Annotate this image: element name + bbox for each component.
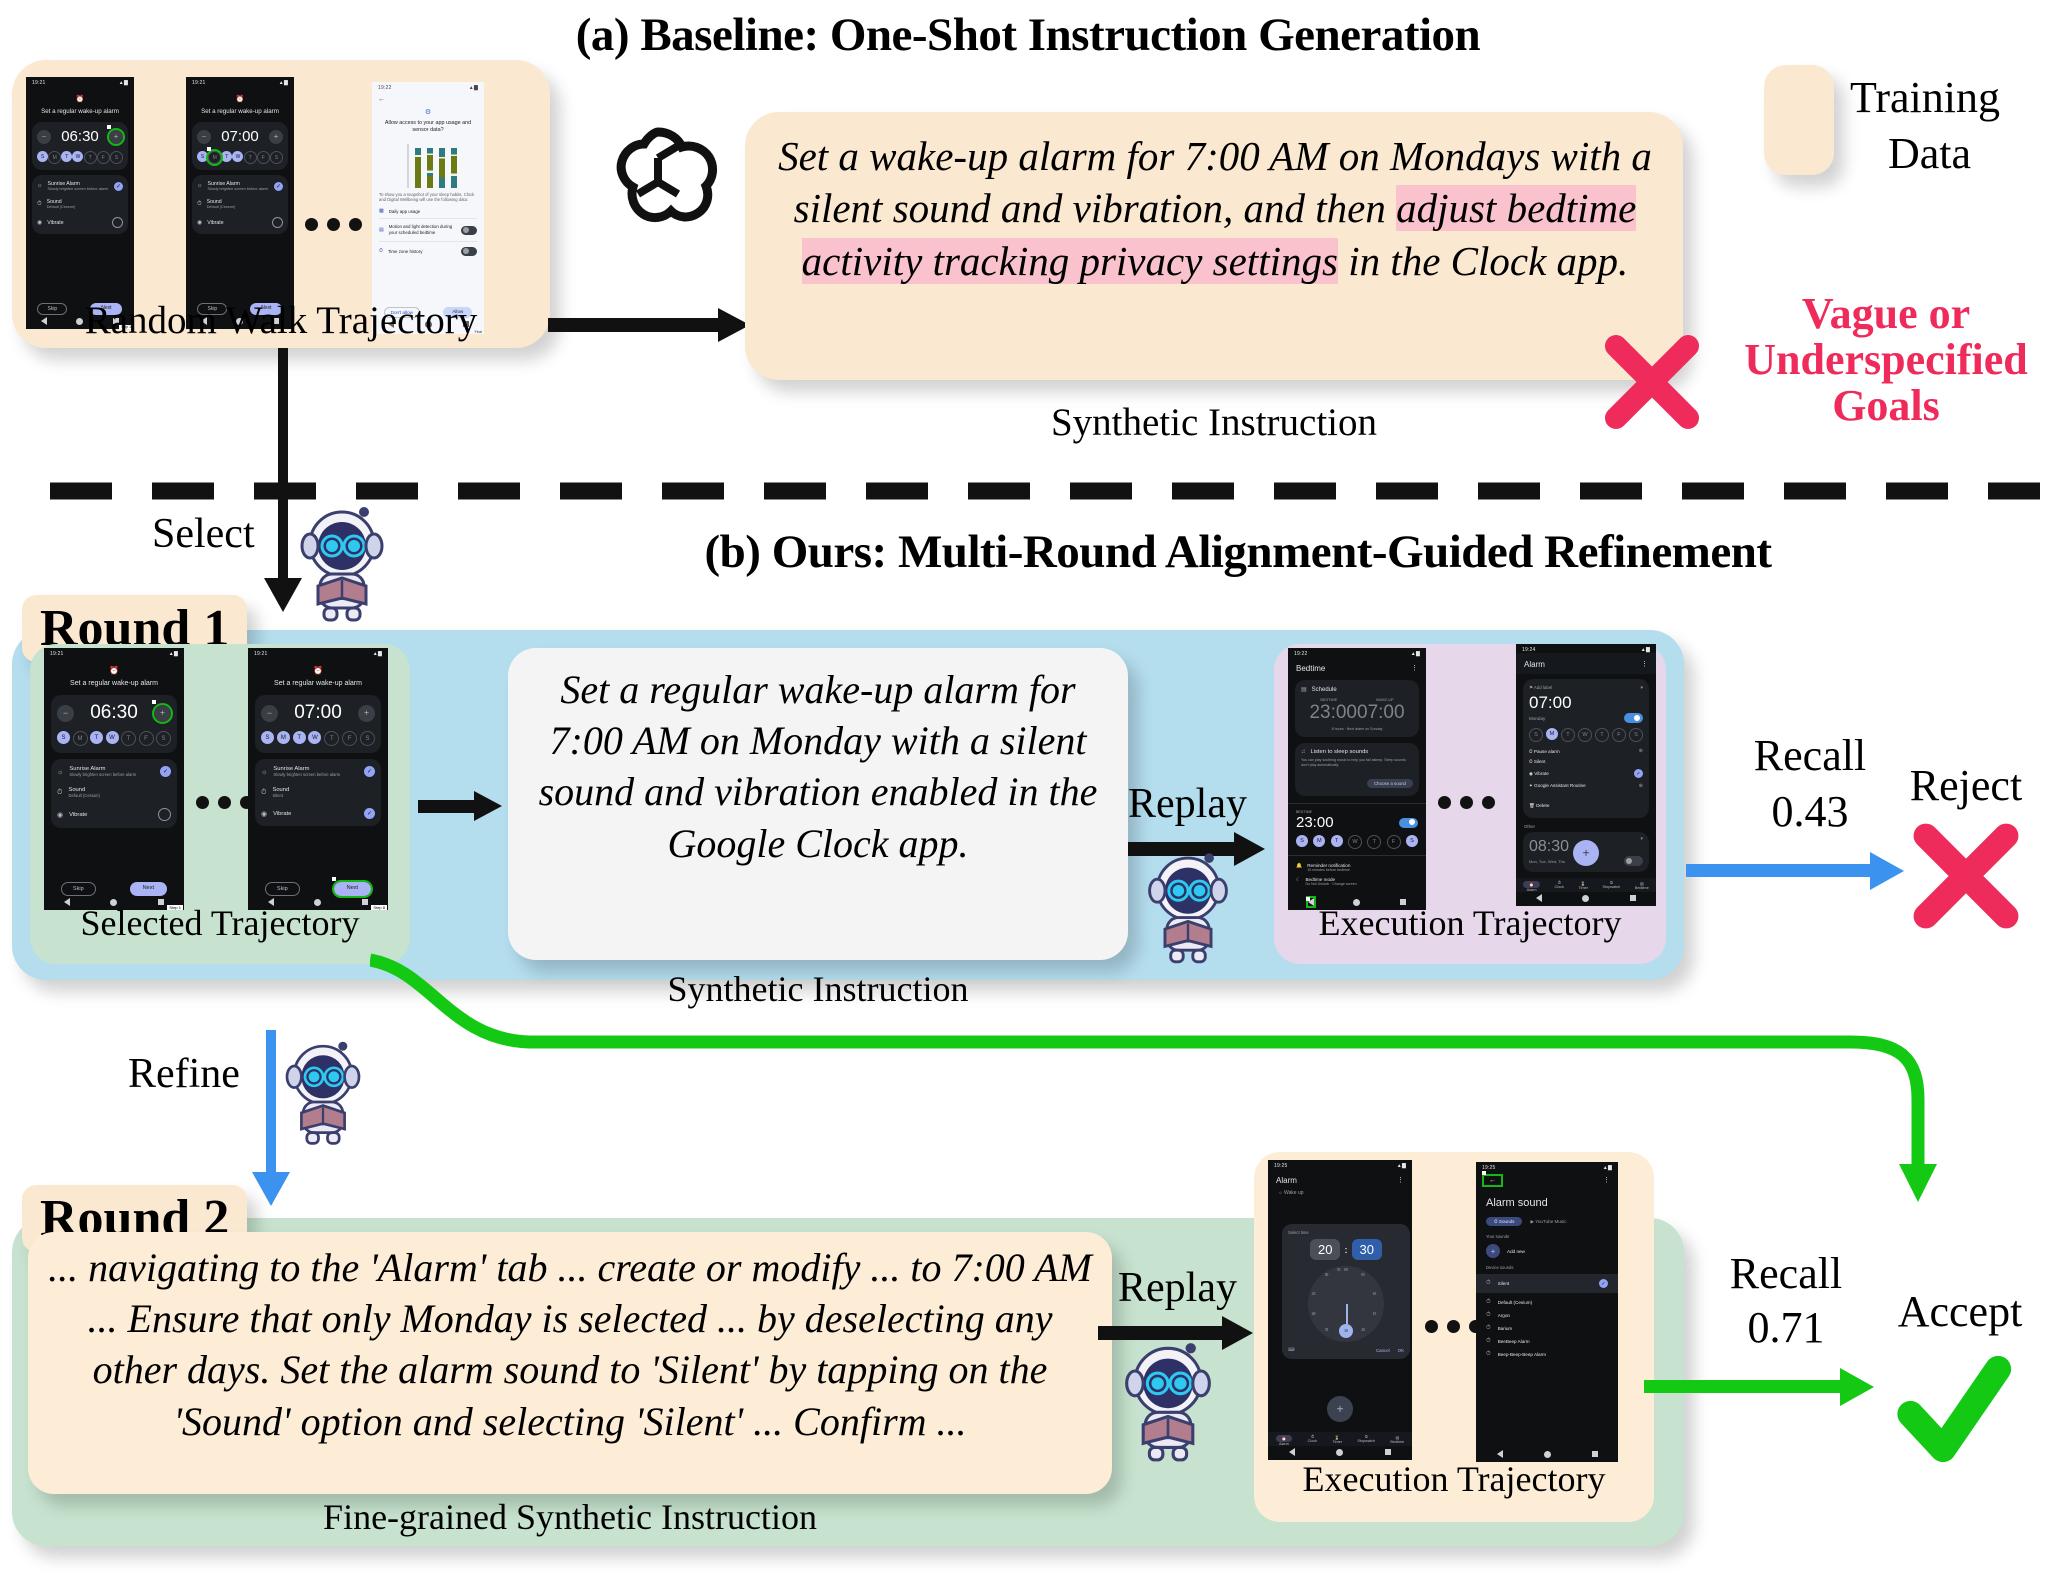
- arrow-traj-to-instruction-r1: [418, 800, 478, 813]
- row-sound[interactable]: ⏱ Sound Default (Cesium): [57, 787, 171, 798]
- row-sunrise-alarm[interactable]: ☼ Sunrise Alarm Slowly brighten screen b…: [57, 766, 171, 777]
- openai-logo-icon: [598, 118, 718, 244]
- bar-chart-icon: ▩: [379, 208, 384, 214]
- status-time: 19:22: [378, 85, 392, 91]
- day-m[interactable]: M: [1546, 728, 1558, 740]
- status-icons: ▲▇: [1411, 651, 1420, 657]
- row-silent[interactable]: ⏱ Silent: [1529, 759, 1643, 764]
- phone-screen-wakeup-0700-a: 19:21▲▇ ⏰ Set a regular wake-up alarm − …: [186, 77, 294, 329]
- back-arrow-icon[interactable]: ←: [372, 91, 484, 103]
- row-sub: Default (Cesium): [207, 205, 283, 209]
- other-label: Other: [1516, 818, 1656, 829]
- day-t1[interactable]: T: [1331, 835, 1343, 847]
- checked-icon: ✓: [160, 766, 171, 777]
- wakeup-value: 07:00: [1357, 702, 1405, 724]
- unchecked-icon: [158, 808, 171, 821]
- day-s1[interactable]: S: [197, 151, 208, 162]
- refine-arrow-line: [266, 1030, 276, 1180]
- day-selector[interactable]: S M T W T F S: [37, 151, 123, 164]
- day-t1[interactable]: T: [61, 151, 72, 162]
- nav-recents-icon[interactable]: [1400, 899, 1406, 905]
- day-t2[interactable]: T: [84, 151, 97, 164]
- schedule-icon: ▤: [1301, 686, 1307, 693]
- tab-alarm[interactable]: ⏰Alarm: [1523, 881, 1540, 892]
- day-f[interactable]: F: [1387, 835, 1401, 849]
- day-w[interactable]: W: [72, 151, 83, 162]
- next-button[interactable]: Next: [130, 882, 168, 896]
- bedtime-toggle[interactable]: [1399, 818, 1418, 828]
- add-alarm-fab[interactable]: +: [1327, 1396, 1353, 1422]
- status-time: 19:21: [254, 651, 268, 657]
- bell-icon: ⏱: [57, 788, 62, 797]
- arrow-head: [1870, 852, 1904, 890]
- arrow-head: [1222, 1316, 1253, 1350]
- phone-screen-selected-0630: 19:21▲▇ ⏰ Set a regular wake-up alarm − …: [44, 648, 184, 910]
- item-label: Motion and light detection during your s…: [389, 224, 456, 235]
- status-time: 19:21: [50, 651, 64, 657]
- phone-screen-alarm-sound: 19:25▲▇ ← ⋮ Alarm sound ⏱ Sounds ▶ YouTu…: [1476, 1162, 1618, 1462]
- tab-bedtime[interactable]: ▤Bedtime: [1390, 1435, 1404, 1446]
- recall-value-r2: 0.71: [1676, 1302, 1896, 1353]
- time-picker-dialog[interactable]: Select time 20 : 30 00 05 10 15 20 25 35…: [1282, 1224, 1410, 1359]
- app-title: Alarm: [1524, 660, 1545, 669]
- other-alarm-toggle[interactable]: [1624, 856, 1643, 866]
- row-vibrate[interactable]: ◉ Vibrate: [57, 808, 171, 821]
- day-s1[interactable]: S: [1529, 728, 1543, 742]
- nav-home-icon[interactable]: [1582, 895, 1589, 902]
- vibrate-icon: ◉: [261, 810, 267, 818]
- phone-screen-timepicker: 19:25▲▇ Alarm ⋮ ☼ Wake up Select time 20…: [1268, 1160, 1412, 1460]
- row-title: Vibrate: [207, 220, 267, 226]
- overflow-menu-icon[interactable]: ⋮: [1603, 1176, 1610, 1185]
- fine-grained-instruction-text: ... navigating to the 'Alarm' tab ... cr…: [46, 1242, 1094, 1447]
- row-vibrate[interactable]: ◉ Vibrate: [197, 217, 283, 228]
- sound-item-barium[interactable]: ⏱ Barium: [1476, 1319, 1618, 1332]
- decision-label-r2: Accept: [1864, 1286, 2056, 1337]
- status-time: 19:25: [1274, 1163, 1288, 1169]
- add-alarm-fab[interactable]: +: [1573, 840, 1599, 866]
- robot-reading-icon: [1116, 1340, 1220, 1464]
- bell-icon: ⏱: [1486, 1299, 1491, 1306]
- synthetic-instruction-caption-a: Synthetic Instruction: [745, 400, 1683, 445]
- row-sound[interactable]: ⏱ Sound Default (Cesium): [37, 199, 123, 209]
- clock-icon: ⏱: [379, 248, 383, 254]
- arrow-head: [1840, 1368, 1874, 1406]
- screen-heading: Set a regular wake-up alarm: [44, 680, 184, 687]
- day-w[interactable]: W: [232, 151, 243, 162]
- overflow-menu-icon[interactable]: ⋮: [1411, 664, 1418, 673]
- sound-item-default[interactable]: ⏱ Default (Cesium): [1476, 1293, 1618, 1306]
- robot-reading-icon: [292, 504, 392, 624]
- sunrise-icon: ☼: [37, 183, 43, 189]
- plus-button[interactable]: +: [109, 130, 123, 144]
- item-label: Daily app usage: [389, 209, 477, 214]
- replay-label-r2: Replay: [1118, 1264, 1237, 1312]
- sound-item-beepbeepbeep[interactable]: ⏱ Beep-Beep-Beep Alarm: [1476, 1345, 1618, 1358]
- step-tag: Step 8: [371, 905, 387, 910]
- day-s1[interactable]: S: [57, 731, 70, 744]
- sound-item-beebeep[interactable]: ⏱ BeeBeep Alarm: [1476, 1332, 1618, 1345]
- row-reminder[interactable]: 🔔 Reminder notification 15 minutes befor…: [1296, 863, 1418, 872]
- choose-sound-button[interactable]: Choose a sound: [1367, 779, 1413, 788]
- row-title: Vibrate: [47, 220, 107, 226]
- synthetic-instruction-text-r1: Set a regular wake-up alarm for 7:00 AM …: [528, 664, 1108, 869]
- row-title: Vibrate: [69, 812, 152, 818]
- day-w[interactable]: W: [106, 731, 119, 744]
- nav-back-icon[interactable]: [1536, 894, 1542, 902]
- alarm-time: 07:00: [294, 702, 342, 724]
- synthetic-instruction-text-a: Set a wake-up alarm for 7:00 AM on Monda…: [765, 130, 1665, 287]
- alarm-toggle[interactable]: [1624, 713, 1643, 723]
- row-pause-alarm[interactable]: ⏱ Pause alarm⊕: [1529, 748, 1643, 754]
- row-sub: Slowly brighten screen before alarm: [208, 187, 270, 191]
- app-title: Alarm: [1276, 1176, 1297, 1185]
- bell-icon: ⏱: [1486, 1351, 1491, 1358]
- day-t1[interactable]: T: [221, 151, 232, 162]
- row-sub: Default (Cesium): [68, 793, 171, 798]
- sleep-title: Listen to sleep sounds: [1311, 749, 1369, 755]
- minus-button[interactable]: −: [197, 130, 211, 144]
- nav-back-icon[interactable]: [1308, 898, 1314, 906]
- verdict-line3: Goals: [1716, 380, 2056, 431]
- row-sub: 15 minutes before bedtime: [1307, 868, 1350, 872]
- day-s1[interactable]: S: [1296, 835, 1308, 847]
- day-t1[interactable]: T: [1561, 728, 1575, 742]
- day-f[interactable]: F: [342, 731, 357, 746]
- day-t2[interactable]: T: [121, 731, 136, 746]
- day-w[interactable]: W: [1578, 728, 1592, 742]
- x-mark-icon: [1600, 330, 1704, 434]
- robot-reading-icon: [278, 1038, 368, 1148]
- other-alarm-days: Mon, Tue, Wed, Thu: [1529, 859, 1565, 864]
- row-delete[interactable]: 🗑 Delete: [1529, 794, 1643, 812]
- row-sub: Slowly brighten screen before alarm: [48, 187, 110, 191]
- select-label: Select: [152, 510, 255, 558]
- row-sub: Default (Cesium): [47, 205, 123, 209]
- nav-home-icon[interactable]: [1353, 899, 1360, 906]
- row-sunrise-alarm[interactable]: ☼ Sunrise Alarm Slowly brighten screen b…: [37, 181, 123, 191]
- row-bedtime-mode[interactable]: ☾ Bedtime mode Do Not Disturb · Change s…: [1296, 877, 1418, 886]
- arrow-head: [1234, 832, 1265, 866]
- phone-screen-alarm-detail: 19:24▲▇ Alarm ⋮ ⚑ Add label ▾ 07:00 Mond…: [1516, 644, 1656, 906]
- alarm-clock-icon: ⏰: [248, 666, 388, 675]
- plus-icon: +: [1486, 1244, 1500, 1258]
- day-f[interactable]: F: [257, 151, 270, 164]
- execution-trajectory-caption-r2: Execution Trajectory: [1254, 1458, 1654, 1500]
- status-icons: ▲▇: [469, 85, 478, 91]
- refine-label: Refine: [128, 1050, 240, 1098]
- skip-button[interactable]: Skip: [265, 882, 300, 896]
- decision-label-r1: Reject: [1876, 760, 2056, 811]
- cancel-button[interactable]: Cancel: [1376, 1348, 1390, 1353]
- sound-item-argon[interactable]: ⏱ Argon: [1476, 1306, 1618, 1319]
- status-time: 19:21: [32, 80, 46, 86]
- status-icons: ▲▇: [1397, 1163, 1406, 1169]
- overflow-menu-icon[interactable]: ⋮: [1397, 1176, 1404, 1185]
- ellipsis-indicator: [196, 796, 253, 809]
- alarm-clock-icon: ⏰: [44, 666, 184, 675]
- row-vibrate[interactable]: ◉ Vibrate✓: [1529, 769, 1643, 778]
- day-s1[interactable]: S: [37, 151, 48, 162]
- checked-icon: ✓: [1634, 769, 1643, 778]
- plus-icon[interactable]: ⊕: [1639, 783, 1643, 789]
- recall-label-r2: Recall: [1676, 1248, 1896, 1299]
- tab-alarm[interactable]: ⏰Alarm: [1276, 1435, 1293, 1446]
- sleep-chart: [372, 142, 484, 188]
- item-label: Time zone history: [388, 249, 456, 254]
- day-selector[interactable]: S M T W T F S: [1296, 835, 1418, 849]
- minus-button[interactable]: −: [37, 130, 51, 144]
- day-t1[interactable]: T: [293, 731, 306, 744]
- alarm-time: 06:30: [61, 128, 99, 145]
- clock-dial[interactable]: 00 05 10 15 20 25 35 40 45 50 55 30: [1308, 1266, 1384, 1342]
- day-t2[interactable]: T: [1595, 728, 1609, 742]
- phone-screen-permission: 19:22▲▇ ← ⚙ Allow access to your app usa…: [372, 82, 484, 334]
- bedtime-row-time: 23:00: [1296, 814, 1334, 831]
- expand-icon[interactable]: ▾: [1640, 836, 1643, 842]
- legend-swatch: [1764, 65, 1834, 175]
- row-sub: Do Not Disturb · Change screen: [1305, 882, 1356, 886]
- nav-recents-icon[interactable]: [1592, 1451, 1598, 1457]
- nav-recents-icon[interactable]: [1385, 1449, 1391, 1455]
- checked-icon: ✓: [274, 182, 283, 191]
- day-f[interactable]: F: [139, 731, 154, 746]
- moon-icon: ☾: [1296, 877, 1300, 883]
- your-sounds-header: Your sounds: [1476, 1226, 1618, 1239]
- day-m[interactable]: M: [1313, 835, 1325, 847]
- panel-b-title: (b) Ours: Multi-Round Alignment-Guided R…: [420, 525, 2056, 579]
- phone-screen-selected-0700: 19:21▲▇ ⏰ Set a regular wake-up alarm − …: [248, 648, 388, 910]
- day-s2[interactable]: S: [156, 731, 171, 746]
- row-sound[interactable]: ⏱ Sound Default (Cesium): [197, 199, 283, 209]
- plus-icon[interactable]: ⊕: [1639, 748, 1643, 754]
- alarm-clock-icon: ⏰: [186, 95, 294, 103]
- select-arrow-line: [278, 348, 288, 583]
- chip-youtube-music[interactable]: ▶ YouTube Music: [1530, 1219, 1566, 1225]
- day-m[interactable]: M: [208, 151, 221, 164]
- tab-timer[interactable]: ⌛Timer: [1332, 1435, 1342, 1446]
- overflow-menu-icon[interactable]: ⋮: [1641, 660, 1648, 669]
- chip-sounds[interactable]: ⏱ Sounds: [1486, 1217, 1522, 1226]
- row-title: Vibrate: [273, 811, 358, 817]
- permission-item-timezone[interactable]: ⏱ Time zone history: [379, 242, 477, 261]
- status-icons: ▲▇: [1603, 1165, 1612, 1171]
- day-w[interactable]: W: [1348, 835, 1362, 849]
- vibrate-icon: ◉: [57, 811, 63, 819]
- tab-stopwatch[interactable]: ⏲Stopwatch: [1603, 881, 1621, 892]
- checked-icon: ✓: [364, 808, 375, 819]
- unchecked-icon: [112, 217, 123, 228]
- sunrise-icon: ☼: [261, 768, 267, 776]
- day-m[interactable]: M: [277, 731, 290, 744]
- schedule-label: Schedule: [1312, 687, 1337, 693]
- add-label-button[interactable]: ⚑ Add label: [1529, 685, 1552, 691]
- row-sunrise-alarm[interactable]: ☼ Sunrise Alarm Slowly brighten screen b…: [197, 181, 283, 191]
- skip-button[interactable]: Skip: [61, 882, 96, 896]
- schedule-note: 8 hours · Next alarm on Sunday: [1301, 727, 1413, 731]
- vibrate-icon: ◉: [37, 219, 42, 226]
- tab-timer[interactable]: ⌛Timer: [1578, 881, 1588, 892]
- permission-item-motion[interactable]: ▤ Motion and light detection during your…: [379, 219, 477, 241]
- bell-icon: ⏱: [197, 201, 202, 208]
- bell-icon: 🔔: [1296, 863, 1302, 869]
- tab-clock[interactable]: ⏱Clock: [1554, 881, 1564, 892]
- nav-home-icon[interactable]: [1336, 1449, 1343, 1456]
- step-tag: Step 1: [167, 905, 183, 910]
- arrow-recall-r2: [1644, 1380, 1844, 1393]
- day-s1[interactable]: S: [261, 731, 274, 744]
- keyboard-icon[interactable]: ⌨: [1288, 1347, 1294, 1353]
- minute-field[interactable]: 30: [1352, 1239, 1382, 1260]
- plus-button[interactable]: +: [358, 705, 375, 722]
- day-f[interactable]: F: [1612, 728, 1626, 742]
- alarm-time: 06:30: [90, 702, 138, 724]
- permission-item-usage[interactable]: ▩ Daily app usage: [379, 208, 477, 219]
- nav-back-icon[interactable]: [1289, 1448, 1295, 1456]
- tab-clock[interactable]: ⏱Clock: [1308, 1435, 1318, 1446]
- row-vibrate[interactable]: ◉ Vibrate: [37, 217, 123, 228]
- arrow-recall-r1: [1686, 864, 1874, 877]
- instr-seg-plain-2: in the Clock app.: [1338, 238, 1628, 284]
- ok-button[interactable]: OK: [1398, 1348, 1404, 1353]
- plus-button[interactable]: +: [154, 705, 171, 722]
- phone-screen-bedtime: 19:22▲▇ Bedtime ⋮ ▤ Schedule BEDTIME WAK…: [1288, 648, 1426, 910]
- nav-recents-icon[interactable]: [158, 899, 164, 905]
- check-mark-icon: [1888, 1344, 2018, 1474]
- screen-title: Alarm sound: [1476, 1185, 1618, 1209]
- row-vibrate[interactable]: ◉ Vibrate ✓: [261, 808, 375, 819]
- ellipsis-indicator: [305, 218, 362, 231]
- permission-body: To show you a snapshot of your sleep hab…: [372, 188, 484, 204]
- screen-heading: Set a regular wake-up alarm: [26, 108, 134, 115]
- checked-icon: ✓: [364, 766, 375, 777]
- nav-recents-icon[interactable]: [1630, 895, 1636, 901]
- day-t2[interactable]: T: [244, 151, 257, 164]
- status-time: 19:22: [1294, 651, 1308, 657]
- day-selector[interactable]: S M T W T F S: [197, 151, 283, 164]
- day-summary: Monday: [1529, 716, 1545, 721]
- day-m[interactable]: M: [48, 151, 61, 164]
- silent-icon: ⏱: [261, 788, 266, 797]
- add-new-sound[interactable]: + Add new: [1476, 1239, 1618, 1258]
- bedtime-value: 23:00: [1309, 702, 1357, 724]
- selected-icon: ✓: [1599, 1279, 1608, 1288]
- day-selector[interactable]: S M T W T F S: [261, 731, 375, 746]
- bed-icon: ▤: [379, 227, 384, 233]
- status-time: 19:24: [1522, 647, 1536, 653]
- day-w[interactable]: W: [308, 731, 321, 744]
- day-s2[interactable]: S: [1406, 835, 1418, 847]
- day-s2[interactable]: S: [360, 731, 375, 746]
- status-icons: ▲▇: [279, 80, 288, 86]
- row-sub: Silent: [272, 793, 375, 798]
- sleep-icon: ⚙: [372, 108, 484, 116]
- day-s2[interactable]: S: [110, 151, 123, 164]
- alarm-time: 07:00: [1529, 693, 1643, 713]
- plus-button[interactable]: +: [269, 130, 283, 144]
- app-title: Bedtime: [1296, 664, 1325, 673]
- bell-icon: ⏱: [1486, 1325, 1491, 1332]
- day-s2[interactable]: S: [270, 151, 283, 164]
- bell-icon: ⏱: [1486, 1338, 1491, 1345]
- row-assistant-routine[interactable]: ✦ Google Assistant Routine⊕: [1529, 783, 1643, 789]
- row-sunrise-alarm[interactable]: ☼ Sunrise Alarm Slowly brighten screen b…: [261, 766, 375, 777]
- screen-heading: Set a regular wake-up alarm: [248, 680, 388, 687]
- nav-home-icon[interactable]: [1544, 1451, 1551, 1458]
- nav-home-icon[interactable]: [314, 899, 321, 906]
- replay-label-r1: Replay: [1128, 780, 1247, 828]
- sound-item-silent[interactable]: ⏱ Silent ✓: [1476, 1274, 1618, 1293]
- nav-back-icon[interactable]: [268, 898, 274, 906]
- verdict-line2: Underspecified: [1716, 334, 2056, 385]
- day-t2[interactable]: T: [1367, 835, 1381, 849]
- status-icons: ▲▇: [373, 651, 382, 657]
- alarm-time: 07:00: [221, 128, 259, 145]
- nav-home-icon[interactable]: [110, 899, 117, 906]
- sunrise-icon: ☼: [197, 183, 203, 189]
- row-sub: Slowly brighten screen before alarm: [273, 772, 358, 777]
- back-arrow-icon[interactable]: ←: [1484, 1176, 1501, 1185]
- nav-recents-icon[interactable]: [362, 899, 368, 905]
- screen-heading: Set a regular wake-up alarm: [186, 108, 294, 115]
- arrow-to-instruction: [548, 318, 723, 332]
- ellipsis-indicator: [1438, 796, 1495, 809]
- toggle-timezone[interactable]: [461, 247, 477, 256]
- day-m[interactable]: M: [73, 731, 88, 746]
- x-mark-icon: [1908, 818, 2024, 934]
- tab-stopwatch[interactable]: ⏲Stopwatch: [1357, 1435, 1375, 1446]
- nav-back-icon[interactable]: [64, 898, 70, 906]
- arrow-replay-r2: [1098, 1326, 1228, 1340]
- random-walk-trajectory-caption: Random Walk Trajectory: [12, 298, 550, 343]
- alarm-clock-icon: ⏰: [26, 95, 134, 103]
- nav-back-icon[interactable]: [1497, 1450, 1503, 1458]
- row-sound[interactable]: ⏱ Sound Silent: [261, 787, 375, 798]
- day-t1[interactable]: T: [90, 731, 103, 744]
- minus-button[interactable]: −: [57, 705, 74, 722]
- collapse-icon[interactable]: ▾: [1640, 685, 1643, 691]
- section-divider: [50, 482, 2040, 500]
- bell-icon: ⏱: [37, 201, 42, 208]
- phone-screen-wakeup-0630: 19:21▲▇ ⏰ Set a regular wake-up alarm − …: [26, 77, 134, 329]
- refine-arrow-head: [252, 1172, 290, 1206]
- next-button[interactable]: Next: [334, 882, 372, 896]
- minus-button[interactable]: −: [261, 705, 278, 722]
- sleep-sound-icon: ♫: [1301, 749, 1306, 755]
- sunrise-icon: ☼: [57, 768, 63, 776]
- day-s2[interactable]: S: [1629, 728, 1643, 742]
- day-selector[interactable]: S M T W T F S: [57, 731, 171, 746]
- unchecked-icon: [272, 217, 283, 228]
- day-selector[interactable]: S M T W T F S: [1529, 728, 1643, 742]
- day-f[interactable]: F: [97, 151, 110, 164]
- status-time: 19:21: [192, 80, 206, 86]
- selected-minute-handle[interactable]: 30: [1339, 1324, 1353, 1338]
- toggle-motion[interactable]: [461, 226, 477, 235]
- checked-icon: ✓: [114, 182, 123, 191]
- status-icons: ▲▇: [119, 80, 128, 86]
- device-sounds-header: Device sounds: [1476, 1258, 1618, 1270]
- arrow-head: [474, 791, 502, 821]
- status-icons: ▲▇: [169, 651, 178, 657]
- fine-grained-instruction-caption: Fine-grained Synthetic Instruction: [28, 1496, 1112, 1538]
- bell-icon: ⏱: [1486, 1312, 1491, 1319]
- sleep-body: You can play soothing music to help you …: [1301, 758, 1413, 768]
- day-t2[interactable]: T: [324, 731, 339, 746]
- tab-bedtime[interactable]: ▤Bedtime: [1635, 881, 1649, 892]
- hour-field[interactable]: 20: [1310, 1239, 1340, 1260]
- verdict-line1: Vague or: [1716, 288, 2056, 339]
